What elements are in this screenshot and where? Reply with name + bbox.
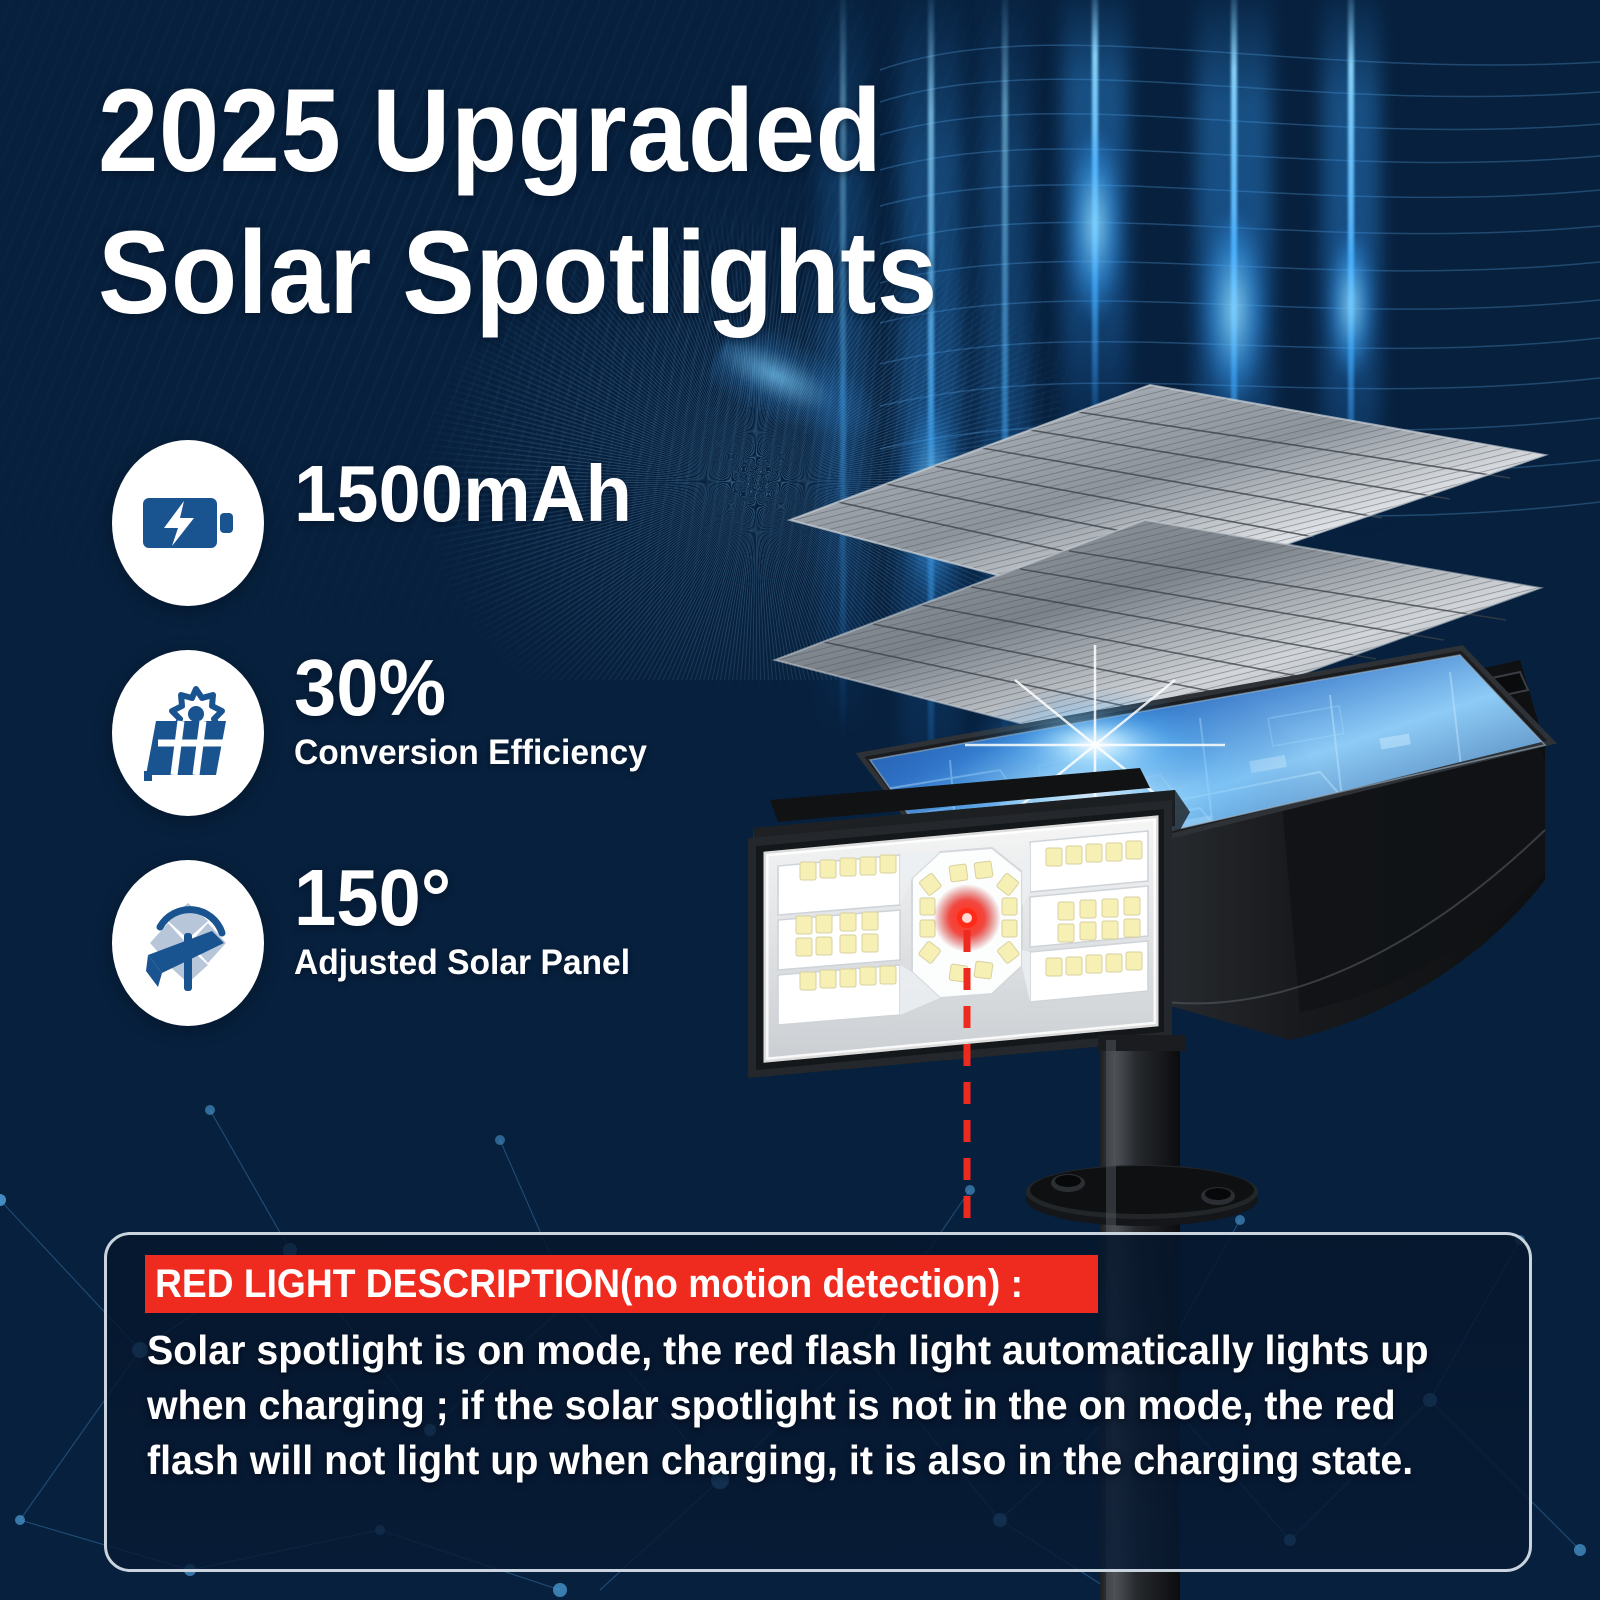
red-indicator-led [957, 908, 977, 928]
led-spotlight-head [748, 768, 1190, 1078]
circuit-board-panel [860, 645, 1552, 910]
headline-line-1: 2025 Upgraded [98, 72, 1092, 190]
feature-item-angle: 150° Adjusted Solar Panel [104, 852, 804, 1062]
product-infographic: 2025 Upgraded Solar Spotlights 1500mAh [0, 0, 1600, 1600]
feature-label: Conversion Efficiency [294, 734, 647, 773]
headline-line-2: Solar Spotlights [98, 214, 1092, 332]
feature-text: 1500mAh [294, 454, 650, 534]
battery-charging-icon [140, 488, 236, 558]
feature-value: 30% [294, 648, 643, 728]
red-light-description-box: RED LIGHT DESCRIPTION(no motion detectio… [104, 1232, 1532, 1572]
spotlight-body [1140, 660, 1545, 1040]
description-body-text: Solar spotlight is on mode, the red flas… [147, 1323, 1443, 1488]
feature-value: 1500mAh [294, 454, 632, 534]
feature-label: Adjusted Solar Panel [294, 944, 630, 983]
feature-icon-badge [112, 440, 264, 606]
headline: 2025 Upgraded Solar Spotlights [98, 72, 1178, 332]
feature-icon-badge [112, 860, 264, 1026]
description-banner: RED LIGHT DESCRIPTION(no motion detectio… [145, 1255, 1098, 1313]
feature-item-battery: 1500mAh [104, 432, 804, 642]
feature-list: 1500mAh [104, 432, 804, 1062]
feature-text: 30% Conversion Efficiency [294, 648, 662, 773]
adjustable-solar-panel-icon [136, 891, 240, 995]
feature-item-efficiency: 30% Conversion Efficiency [104, 642, 804, 852]
red-indicator-led-glow [933, 884, 1001, 952]
feature-icon-badge [112, 650, 264, 816]
feature-text: 150° Adjusted Solar Panel [294, 858, 644, 983]
solar-panel-sun-icon [136, 683, 240, 783]
feature-value: 150° [294, 858, 627, 938]
description-banner-text: RED LIGHT DESCRIPTION(no motion detectio… [155, 1264, 1023, 1304]
